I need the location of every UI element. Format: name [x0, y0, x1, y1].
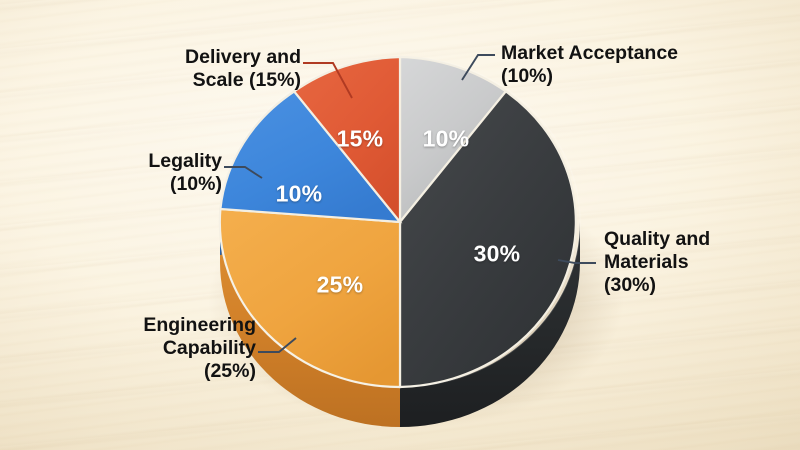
- callout-label-market-acceptance: Market Acceptance (10%): [501, 42, 678, 88]
- callout-label-quality-and-materials: Quality and Materials (30%): [604, 228, 710, 296]
- callout-label-legality: Legality (10%): [148, 150, 222, 196]
- pie-chart-screenshot: 10% 30% 25% 10% 15% Delivery and Scale (…: [0, 0, 800, 450]
- pie-chart-graphic: [0, 0, 800, 450]
- callout-label-delivery-and-scale: Delivery and Scale (15%): [185, 46, 301, 92]
- callout-label-engineering-capability: Engineering Capability (25%): [143, 314, 256, 382]
